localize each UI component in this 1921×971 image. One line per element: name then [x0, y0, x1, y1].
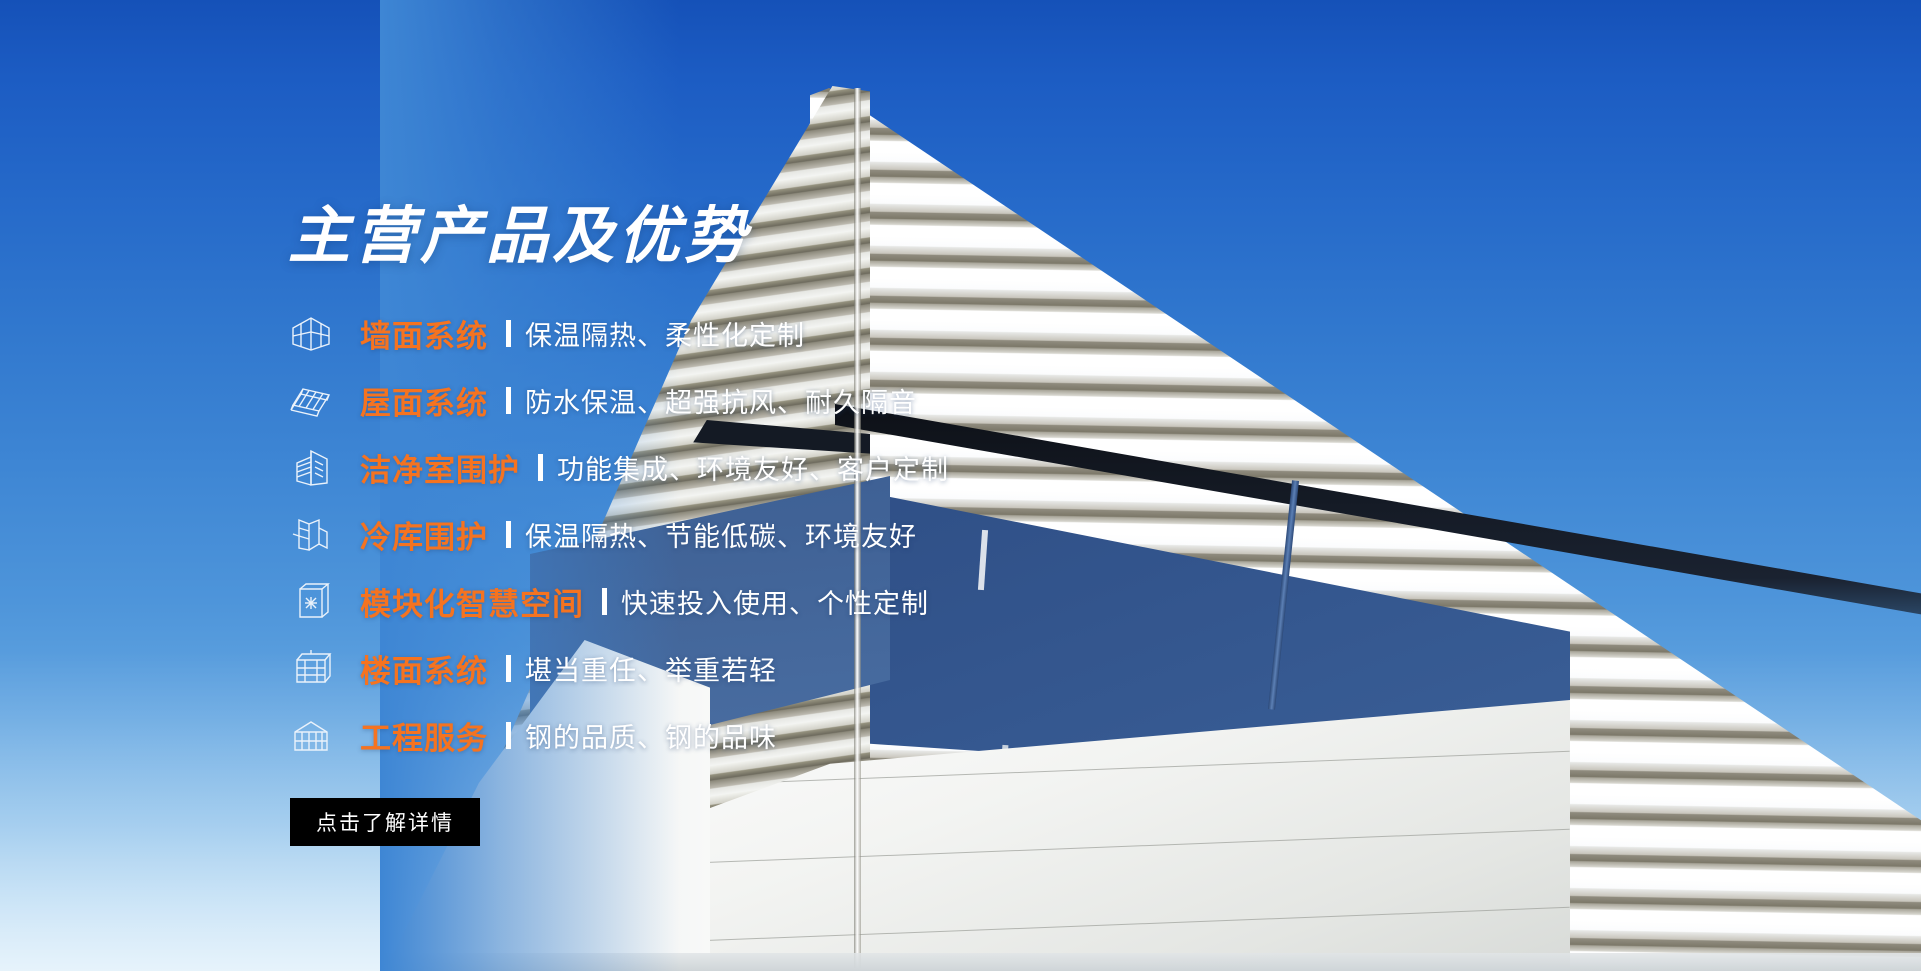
- feature-row-wall-system[interactable]: 墙面系统 保温隔热、柔性化定制: [288, 300, 1108, 367]
- feature-separator: [602, 588, 607, 615]
- feature-separator: [506, 655, 511, 682]
- feature-description: 钢的品质、钢的品味: [525, 716, 777, 755]
- feature-name: 模块化智慧空间: [360, 579, 584, 624]
- feature-separator: [506, 521, 511, 548]
- feature-description: 保温隔热、节能低碳、环境友好: [525, 515, 917, 554]
- feature-description: 功能集成、环境友好、客户定制: [557, 448, 949, 487]
- cleanroom-building-icon: [288, 445, 334, 491]
- floor-deck-icon: [288, 646, 334, 692]
- feature-row-floor-system[interactable]: 楼面系统 堪当重任、举重若轻: [288, 635, 1108, 702]
- product-feature-list: 墙面系统 保温隔热、柔性化定制 屋面系统: [288, 300, 1108, 769]
- roof-panel-icon: [288, 378, 334, 424]
- feature-description: 保温隔热、柔性化定制: [525, 314, 805, 353]
- wall-panel-icon: [288, 311, 334, 357]
- feature-separator: [538, 454, 543, 481]
- banner-content: 主营产品及优势 墙面系统 保温隔热、柔性化定制: [0, 0, 1100, 971]
- feature-row-modular-space[interactable]: 模块化智慧空间 快速投入使用、个性定制: [288, 568, 1108, 635]
- engineering-service-icon: [288, 713, 334, 759]
- feature-name: 冷库围护: [360, 512, 488, 557]
- learn-more-button[interactable]: 点击了解详情: [290, 798, 480, 846]
- feature-separator: [506, 387, 511, 414]
- feature-name: 墙面系统: [360, 311, 488, 356]
- page-title: 主营产品及优势: [288, 205, 750, 267]
- feature-row-engineering-service[interactable]: 工程服务 钢的品质、钢的品味: [288, 702, 1108, 769]
- hero-banner: 主营产品及优势 墙面系统 保温隔热、柔性化定制: [0, 0, 1921, 971]
- feature-name: 楼面系统: [360, 646, 488, 691]
- feature-name: 洁净室围护: [360, 445, 520, 490]
- modular-cube-icon: [288, 579, 334, 625]
- feature-name: 工程服务: [360, 713, 488, 758]
- feature-separator: [506, 320, 511, 347]
- feature-name: 屋面系统: [360, 378, 488, 423]
- feature-description: 防水保温、超强抗风、耐久隔音: [525, 381, 917, 420]
- feature-description: 快速投入使用、个性定制: [621, 582, 929, 621]
- feature-row-roof-system[interactable]: 屋面系统 防水保温、超强抗风、耐久隔音: [288, 367, 1108, 434]
- feature-row-cold-storage[interactable]: 冷库围护 保温隔热、节能低碳、环境友好: [288, 501, 1108, 568]
- cold-storage-icon: [288, 512, 334, 558]
- feature-separator: [506, 722, 511, 749]
- feature-row-cleanroom[interactable]: 洁净室围护 功能集成、环境友好、客户定制: [288, 434, 1108, 501]
- feature-description: 堪当重任、举重若轻: [525, 649, 777, 688]
